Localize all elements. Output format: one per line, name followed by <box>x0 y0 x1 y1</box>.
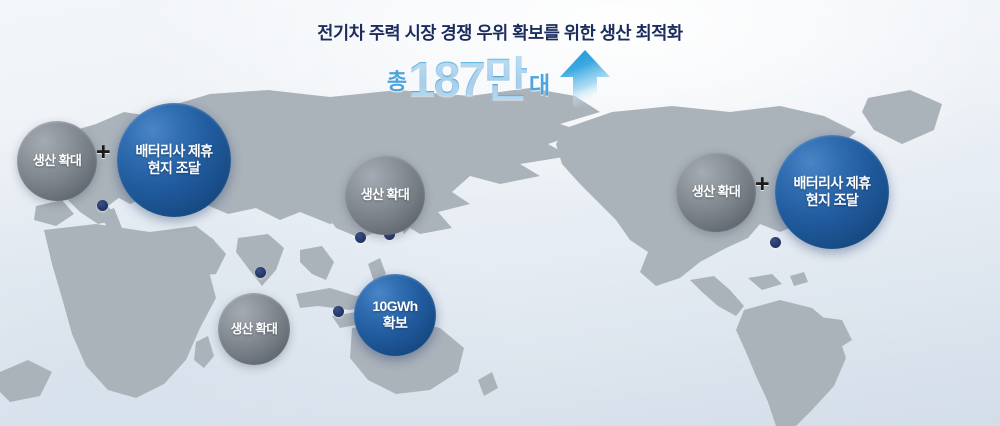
bubble-label: 10GWh확보 <box>372 298 417 331</box>
bubble-label: 배터리사 제휴현지 조달 <box>794 175 871 208</box>
bubble-india-production[interactable]: 생산 확대 <box>218 293 290 365</box>
headline-figure: 총 187만 대 <box>0 47 1000 105</box>
marker-usa-icon <box>770 237 781 248</box>
bubble-label: 배터리사 제휴현지 조달 <box>136 143 213 176</box>
up-arrow-icon <box>557 47 613 109</box>
headline-number: 187만 <box>408 56 527 105</box>
bubble-europe-production[interactable]: 생산 확대 <box>17 121 97 201</box>
headline-suffix: 대 <box>529 66 549 105</box>
marker-europe-icon <box>97 200 108 211</box>
bubble-indonesia-capacity[interactable]: 10GWh확보 <box>354 274 436 356</box>
marker-china-icon <box>355 232 366 243</box>
infographic-canvas: 전기차 주력 시장 경쟁 우위 확보를 위한 생산 최적화 총 187만 대 생… <box>0 0 1000 426</box>
bubble-usa-production[interactable]: 생산 확대 <box>676 152 756 232</box>
bubble-china-production[interactable]: 생산 확대 <box>345 155 425 235</box>
bubble-usa-battery[interactable]: 배터리사 제휴현지 조달 <box>775 135 889 249</box>
bubble-europe-battery[interactable]: 배터리사 제휴현지 조달 <box>117 103 231 217</box>
headline-prefix: 총 <box>387 64 406 105</box>
marker-india-icon <box>255 267 266 278</box>
bubble-label: 생산 확대 <box>692 184 740 199</box>
bubble-label: 생산 확대 <box>33 153 81 168</box>
bubble-label: 생산 확대 <box>231 322 277 337</box>
plus-america-icon: + <box>755 172 770 197</box>
marker-indonesia-icon <box>333 306 344 317</box>
page-title: 전기차 주력 시장 경쟁 우위 확보를 위한 생산 최적화 <box>0 20 1000 45</box>
bubble-label: 생산 확대 <box>361 187 409 202</box>
plus-europe-icon: + <box>96 140 111 165</box>
